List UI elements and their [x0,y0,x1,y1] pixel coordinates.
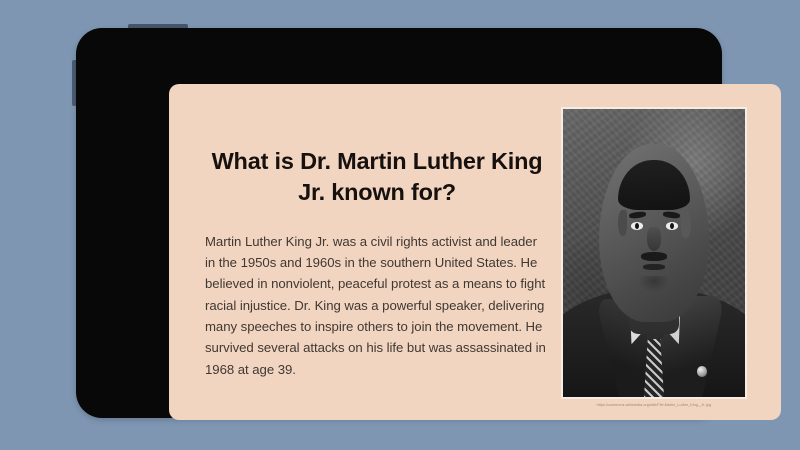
portrait-photo-frame [561,107,747,399]
photo-source-caption: https://commons.wikimedia.org/wiki/File:… [561,403,747,408]
slide-text-column: What is Dr. Martin Luther King Jr. known… [205,146,549,380]
hair [618,160,690,210]
mouth [643,264,665,270]
head [599,144,708,323]
slide: What is Dr. Martin Luther King Jr. known… [169,84,781,420]
eye-right [666,222,678,229]
mustache [641,252,667,260]
chin-shadow [639,276,670,292]
eye-left [631,222,643,229]
tablet-device: What is Dr. Martin Luther King Jr. known… [76,28,722,418]
page-title: What is Dr. Martin Luther King Jr. known… [205,146,549,209]
ear-right [681,210,691,239]
portrait-photo [563,109,745,397]
nose [647,227,661,250]
eyebrow-left [629,211,647,219]
ear-left [618,210,627,237]
slide-presentation-scene: What is Dr. Martin Luther King Jr. known… [0,0,800,450]
eyebrow-right [662,211,680,219]
tablet-screen: What is Dr. Martin Luther King Jr. known… [169,84,781,420]
lapel-pin [697,366,707,376]
slide-body-text: Martin Luther King Jr. was a civil right… [205,231,549,381]
